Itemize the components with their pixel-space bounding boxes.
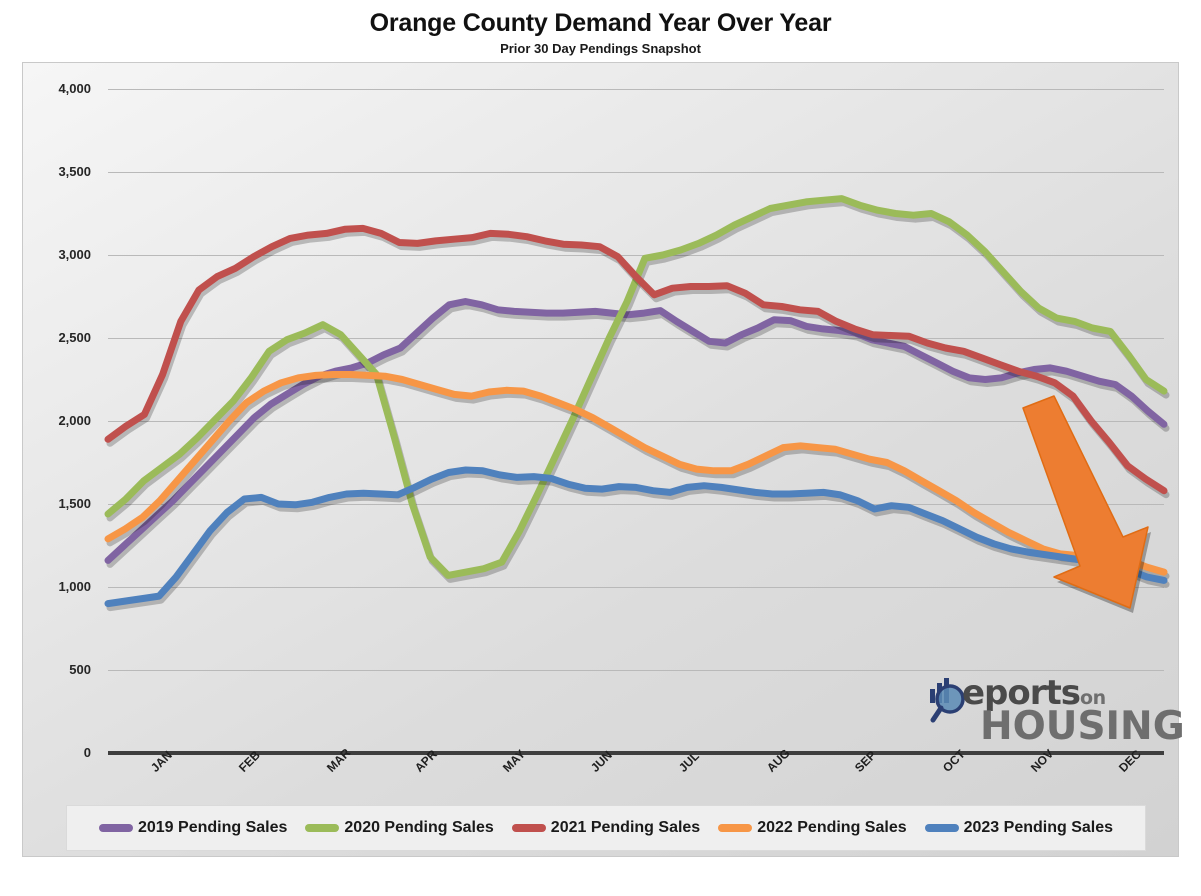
- legend-swatch: [925, 824, 959, 832]
- legend-swatch: [512, 824, 546, 832]
- chart-page: Orange County Demand Year Over Year Prio…: [0, 0, 1201, 896]
- reports-on-housing-logo: eportson HOUSING: [928, 671, 1143, 749]
- series-line-shadow: [110, 474, 1166, 608]
- legend-swatch: [99, 824, 133, 832]
- legend-label: 2023 Pending Sales: [964, 819, 1113, 837]
- series-group: [108, 89, 1164, 753]
- y-axis-tick-label: 0: [0, 745, 91, 760]
- chart-panel: 05001,0001,5002,0002,5003,0003,5004,000 …: [22, 62, 1179, 857]
- legend-item[interactable]: 2019 Pending Sales: [99, 819, 287, 837]
- legend-label: 2021 Pending Sales: [551, 819, 700, 837]
- legend-item[interactable]: 2022 Pending Sales: [718, 819, 906, 837]
- legend-item[interactable]: 2021 Pending Sales: [512, 819, 700, 837]
- legend-label: 2022 Pending Sales: [757, 819, 906, 837]
- series-line-2019: [108, 302, 1164, 561]
- y-axis-tick-label: 1,000: [0, 579, 91, 594]
- title-block: Orange County Demand Year Over Year Prio…: [0, 8, 1201, 57]
- page-subtitle: Prior 30 Day Pendings Snapshot: [0, 41, 1201, 57]
- legend-swatch: [305, 824, 339, 832]
- legend-item[interactable]: 2023 Pending Sales: [925, 819, 1113, 837]
- legend-swatch: [718, 824, 752, 832]
- chart-legend: 2019 Pending Sales2020 Pending Sales2021…: [66, 805, 1146, 851]
- y-axis-tick-label: 4,000: [0, 81, 91, 96]
- y-axis-tick-label: 2,000: [0, 413, 91, 428]
- y-axis-tick-label: 3,000: [0, 247, 91, 262]
- y-axis-tick-label: 3,500: [0, 164, 91, 179]
- page-title: Orange County Demand Year Over Year: [0, 8, 1201, 38]
- legend-label: 2020 Pending Sales: [344, 819, 493, 837]
- legend-item[interactable]: 2020 Pending Sales: [305, 819, 493, 837]
- y-axis-tick-label: 1,500: [0, 496, 91, 511]
- logo-housing-text: HOUSING: [980, 704, 1185, 749]
- plot-area: 05001,0001,5002,0002,5003,0003,5004,000 …: [108, 89, 1164, 753]
- legend-label: 2019 Pending Sales: [138, 819, 287, 837]
- y-axis-tick-label: 500: [0, 662, 91, 677]
- y-axis-tick-label: 2,500: [0, 330, 91, 345]
- series-line-shadow: [110, 306, 1166, 565]
